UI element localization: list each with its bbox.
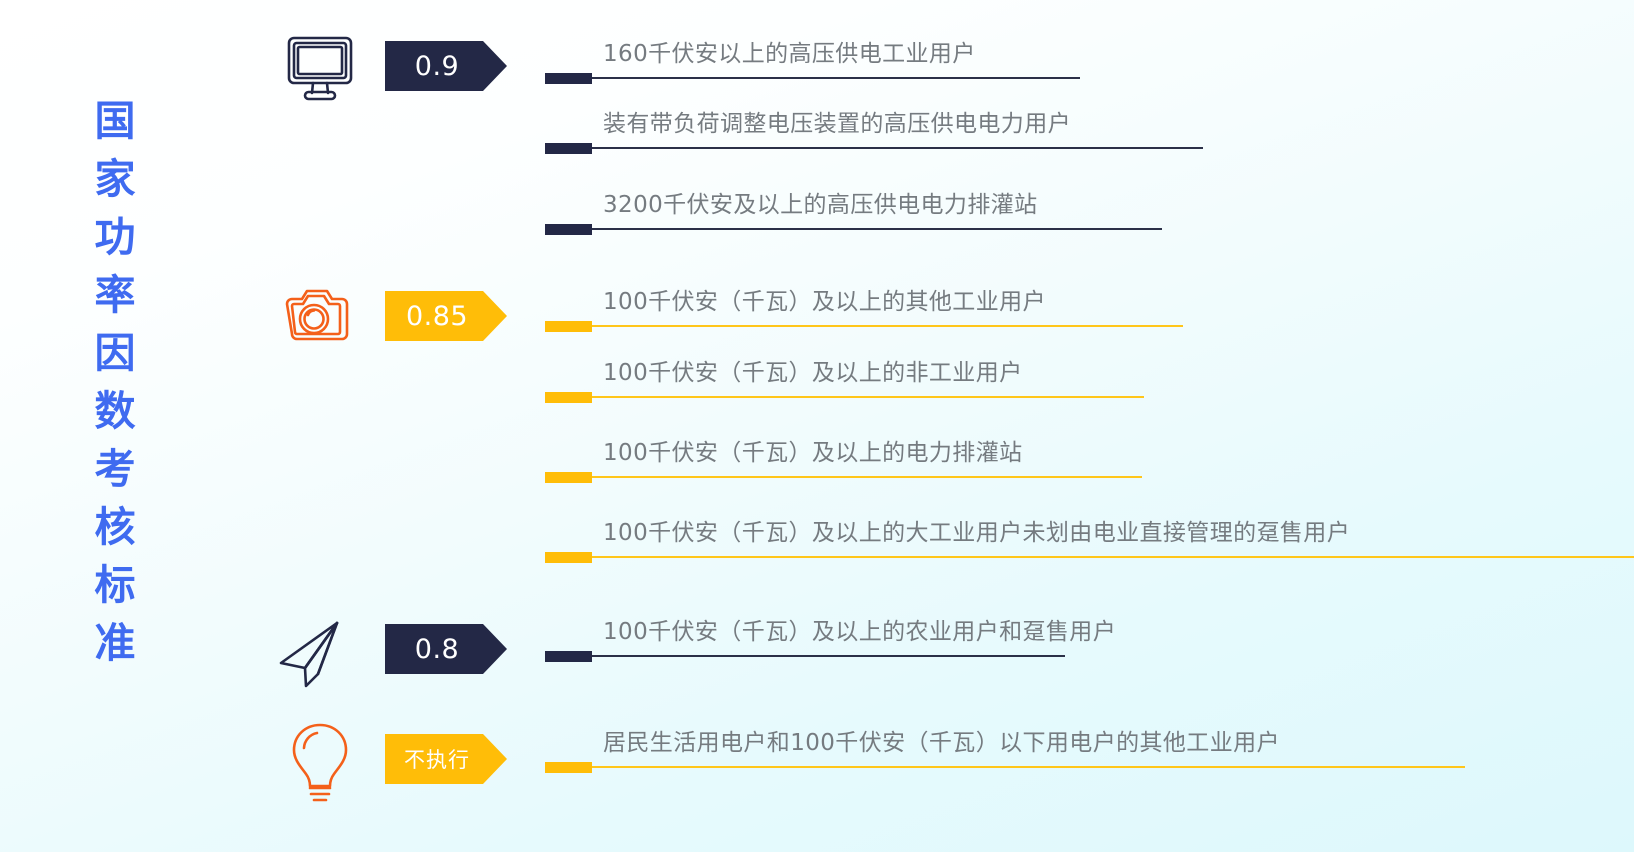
page-title-char-4: 因 xyxy=(86,324,144,382)
rule-hairline xyxy=(592,655,1065,657)
badge-none[interactable]: 不执行 xyxy=(385,734,507,784)
badge-090[interactable]: 0.9 xyxy=(385,41,507,91)
row-label: 160千伏安以上的高压供电工业用户 xyxy=(603,34,976,68)
rule-stub xyxy=(545,73,592,84)
camera-icon xyxy=(283,281,357,355)
page-title-char-8: 标 xyxy=(86,556,144,614)
badge-080[interactable]: 0.8 xyxy=(385,624,507,674)
row-label: 100千伏安（千瓦）及以上的大工业用户未划由电业直接管理的趸售用户 xyxy=(603,513,1350,547)
row-rule xyxy=(545,762,1465,773)
page-title-char-2: 功 xyxy=(86,208,144,266)
rule-hairline xyxy=(592,228,1162,230)
row-label: 装有带负荷调整电压装置的高压供电电力用户 xyxy=(603,104,1071,138)
rule-hairline xyxy=(592,476,1142,478)
row-item[interactable]: 100千伏安（千瓦）及以上的非工业用户 xyxy=(545,355,1144,403)
row-rule xyxy=(545,651,1065,662)
page-title-char-9: 准 xyxy=(86,614,144,672)
row-item[interactable]: 3200千伏安及以上的高压供电电力排灌站 xyxy=(545,187,1162,235)
row-rule xyxy=(545,143,1203,154)
row-label: 居民生活用电户和100千伏安（千瓦）以下用电户的其他工业用户 xyxy=(603,723,1280,757)
page-title: 国家功率因数考核标准 xyxy=(86,92,144,672)
row-label: 100千伏安（千瓦）及以上的其他工业用户 xyxy=(603,282,1046,316)
row-rule xyxy=(545,321,1183,332)
row-rule xyxy=(545,392,1144,403)
page-title-char-3: 率 xyxy=(86,266,144,324)
row-rule xyxy=(545,224,1162,235)
row-rule xyxy=(545,552,1634,563)
row-item[interactable]: 装有带负荷调整电压装置的高压供电电力用户 xyxy=(545,106,1203,154)
badge-080-label: 0.8 xyxy=(415,634,459,665)
rule-stub xyxy=(545,472,592,483)
badge-085-label: 0.85 xyxy=(406,301,468,332)
badge-090-label: 0.9 xyxy=(415,51,459,82)
paper-plane-icon xyxy=(275,614,361,694)
row-rule xyxy=(545,73,1080,84)
row-item[interactable]: 100千伏安（千瓦）及以上的其他工业用户 xyxy=(545,284,1183,332)
rule-hairline xyxy=(592,556,1634,558)
badge-none-label: 不执行 xyxy=(404,744,470,774)
row-item[interactable]: 居民生活用电户和100千伏安（千瓦）以下用电户的其他工业用户 xyxy=(545,725,1465,773)
infographic-canvas: 国家功率因数考核标准 0.9 160千伏安以上的高压供电工业用户 装有带负荷调整… xyxy=(0,0,1634,852)
rule-hairline xyxy=(592,766,1465,768)
rule-stub xyxy=(545,143,592,154)
badge-085[interactable]: 0.85 xyxy=(385,291,507,341)
page-title-char-7: 核 xyxy=(86,498,144,556)
rule-stub xyxy=(545,552,592,563)
page-title-char-5: 数 xyxy=(86,382,144,440)
row-label: 100千伏安（千瓦）及以上的农业用户和趸售用户 xyxy=(603,612,1116,646)
page-title-char-0: 国 xyxy=(86,92,144,150)
row-label: 100千伏安（千瓦）及以上的电力排灌站 xyxy=(603,433,1023,467)
monitor-icon xyxy=(283,30,357,104)
row-item[interactable]: 100千伏安（千瓦）及以上的大工业用户未划由电业直接管理的趸售用户 xyxy=(545,515,1634,563)
row-label: 100千伏安（千瓦）及以上的非工业用户 xyxy=(603,353,1023,387)
row-label: 3200千伏安及以上的高压供电电力排灌站 xyxy=(603,185,1038,219)
rule-stub xyxy=(545,762,592,773)
page-title-char-6: 考 xyxy=(86,440,144,498)
rule-stub xyxy=(545,321,592,332)
rule-hairline xyxy=(592,325,1183,327)
rule-stub xyxy=(545,392,592,403)
rule-hairline xyxy=(592,147,1203,149)
row-item[interactable]: 100千伏安（千瓦）及以上的农业用户和趸售用户 xyxy=(545,614,1065,662)
rule-hairline xyxy=(592,396,1144,398)
row-item[interactable]: 100千伏安（千瓦）及以上的电力排灌站 xyxy=(545,435,1142,483)
row-rule xyxy=(545,472,1142,483)
lightbulb-icon xyxy=(288,722,352,806)
rule-hairline xyxy=(592,77,1080,79)
rule-stub xyxy=(545,224,592,235)
rule-stub xyxy=(545,651,592,662)
page-title-char-1: 家 xyxy=(86,150,144,208)
row-item[interactable]: 160千伏安以上的高压供电工业用户 xyxy=(545,36,1080,84)
